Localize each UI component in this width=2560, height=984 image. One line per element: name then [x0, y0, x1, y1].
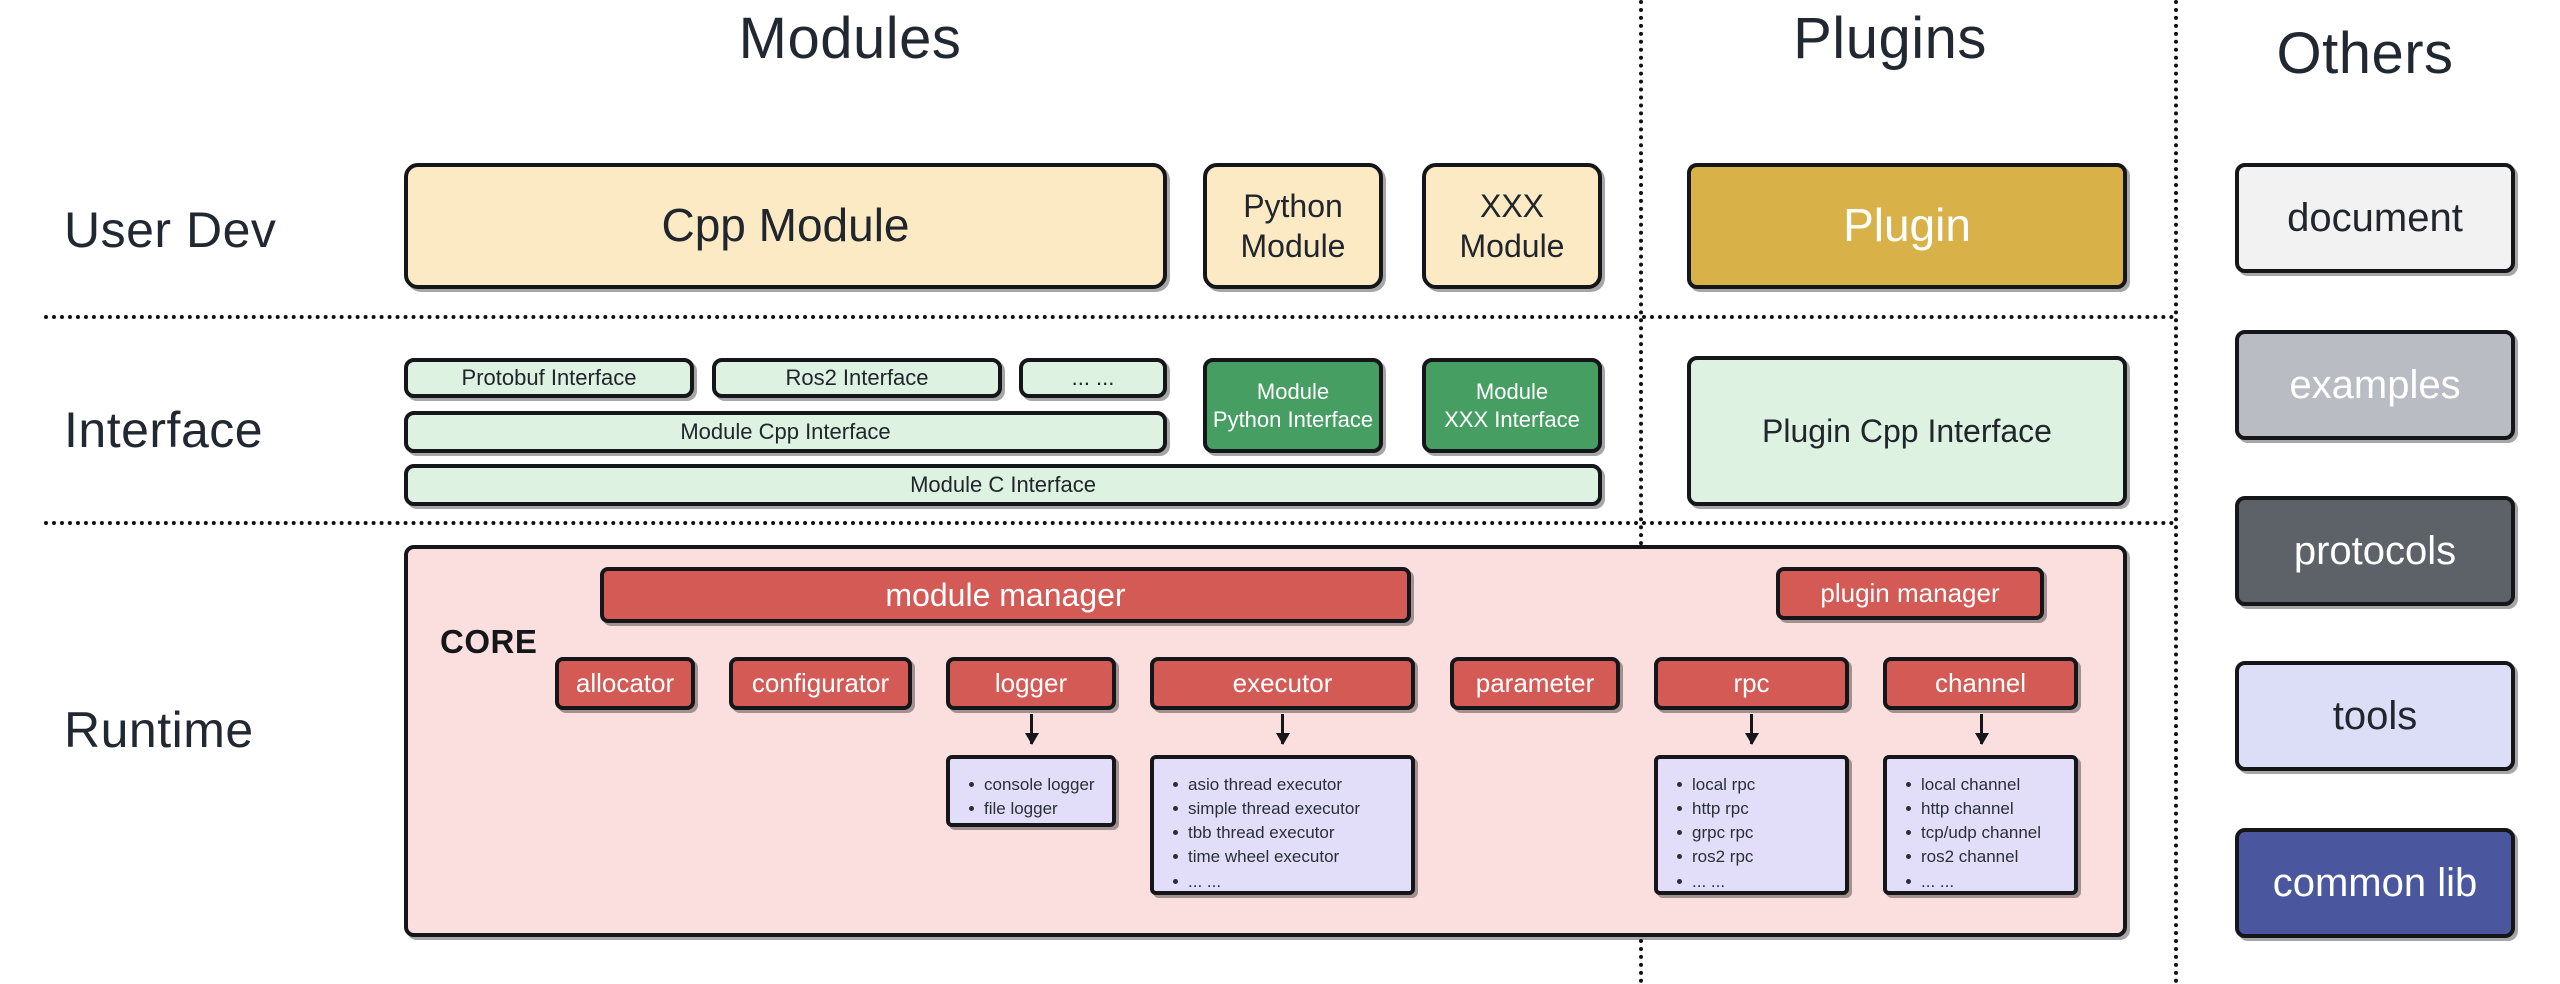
node-module-xxx-interface-line1: Module — [1476, 378, 1548, 406]
node-xxx-module-label-line2: Module — [1460, 226, 1565, 266]
list-item: tcp/udp channel — [1919, 821, 2064, 845]
list-item: file logger — [982, 797, 1102, 821]
node-others-examples[interactable]: examples — [2235, 330, 2515, 440]
list-item: ... ... — [1690, 870, 1835, 894]
node-configurator[interactable]: configurator — [729, 657, 912, 710]
divider-plugins-others — [2174, 0, 2178, 984]
list-item: ros2 rpc — [1690, 845, 1835, 869]
list-item: local rpc — [1690, 773, 1835, 797]
node-channel[interactable]: channel — [1883, 657, 2078, 710]
architecture-diagram: Modules Plugins Others User Dev Interfac… — [0, 0, 2560, 984]
column-title-others: Others — [2205, 25, 2525, 83]
column-title-modules: Modules — [620, 10, 1080, 68]
rpc-details-box: local rpc http rpc grpc rpc ros2 rpc ...… — [1654, 755, 1849, 895]
list-item: grpc rpc — [1690, 821, 1835, 845]
channel-details-box: local channel http channel tcp/udp chann… — [1883, 755, 2078, 895]
node-module-manager[interactable]: module manager — [600, 567, 1411, 623]
executor-details-box: asio thread executor simple thread execu… — [1150, 755, 1415, 895]
divider-interface-runtime — [44, 521, 2176, 525]
node-others-document[interactable]: document — [2235, 163, 2515, 273]
row-label-runtime: Runtime — [64, 705, 394, 755]
node-module-xxx-interface[interactable]: Module XXX Interface — [1422, 358, 1602, 453]
node-logger[interactable]: logger — [946, 657, 1116, 710]
node-plugin-cpp-interface[interactable]: Plugin Cpp Interface — [1687, 356, 2127, 506]
node-module-python-interface-line2: Python Interface — [1213, 406, 1373, 434]
divider-userdev-interface — [44, 315, 2176, 319]
arrow-channel-to-details — [1980, 714, 1983, 744]
node-module-python-interface[interactable]: Module Python Interface — [1203, 358, 1383, 453]
list-item: http channel — [1919, 797, 2064, 821]
node-others-common-lib[interactable]: common lib — [2235, 828, 2515, 938]
node-others-protocols[interactable]: protocols — [2235, 496, 2515, 606]
arrow-rpc-to-details — [1750, 714, 1753, 744]
arrow-executor-to-details — [1281, 714, 1284, 744]
logger-details-box: console logger file logger — [946, 755, 1116, 827]
node-module-xxx-interface-line2: XXX Interface — [1444, 406, 1580, 434]
list-item: tbb thread executor — [1186, 821, 1401, 845]
node-python-module[interactable]: Python Module — [1203, 163, 1383, 289]
channel-details-list: local channel http channel tcp/udp chann… — [1901, 773, 2064, 894]
node-python-module-label-line1: Python — [1243, 186, 1343, 226]
list-item: ... ... — [1919, 870, 2064, 894]
executor-details-list: asio thread executor simple thread execu… — [1168, 773, 1401, 894]
list-item: ros2 channel — [1919, 845, 2064, 869]
node-module-c-interface[interactable]: Module C Interface — [404, 464, 1602, 506]
list-item: ... ... — [1186, 870, 1401, 894]
list-item: console logger — [982, 773, 1102, 797]
node-xxx-module-label-line1: XXX — [1480, 186, 1544, 226]
node-ros2-interface[interactable]: Ros2 Interface — [712, 358, 1002, 398]
list-item: asio thread executor — [1186, 773, 1401, 797]
node-module-python-interface-line1: Module — [1257, 378, 1329, 406]
node-rpc[interactable]: rpc — [1654, 657, 1849, 710]
node-interface-ellipsis[interactable]: ... ... — [1019, 358, 1167, 398]
list-item: http rpc — [1690, 797, 1835, 821]
node-parameter[interactable]: parameter — [1450, 657, 1620, 710]
row-label-user-dev: User Dev — [64, 205, 394, 255]
node-python-module-label-line2: Module — [1241, 226, 1346, 266]
node-plugin[interactable]: Plugin — [1687, 163, 2127, 289]
list-item: simple thread executor — [1186, 797, 1401, 821]
row-label-interface: Interface — [64, 405, 394, 455]
core-label: CORE — [440, 623, 600, 661]
node-plugin-manager[interactable]: plugin manager — [1776, 567, 2044, 620]
node-module-cpp-interface[interactable]: Module Cpp Interface — [404, 411, 1167, 453]
node-cpp-module[interactable]: Cpp Module — [404, 163, 1167, 289]
node-xxx-module[interactable]: XXX Module — [1422, 163, 1602, 289]
arrow-logger-to-details — [1030, 714, 1033, 744]
rpc-details-list: local rpc http rpc grpc rpc ros2 rpc ...… — [1672, 773, 1835, 894]
node-allocator[interactable]: allocator — [555, 657, 695, 710]
column-title-plugins: Plugins — [1680, 10, 2100, 68]
node-others-tools[interactable]: tools — [2235, 661, 2515, 771]
list-item: time wheel executor — [1186, 845, 1401, 869]
list-item: local channel — [1919, 773, 2064, 797]
logger-details-list: console logger file logger — [964, 773, 1102, 821]
node-executor[interactable]: executor — [1150, 657, 1415, 710]
node-protobuf-interface[interactable]: Protobuf Interface — [404, 358, 694, 398]
